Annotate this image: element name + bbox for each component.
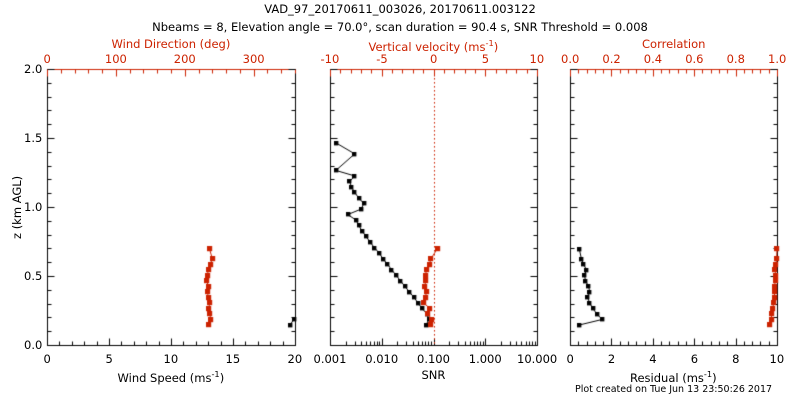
vad-profile-figure: VAD_97_20170611_003026, 20170611.003122 …	[0, 0, 800, 400]
profile-plot-canvas	[0, 0, 800, 400]
